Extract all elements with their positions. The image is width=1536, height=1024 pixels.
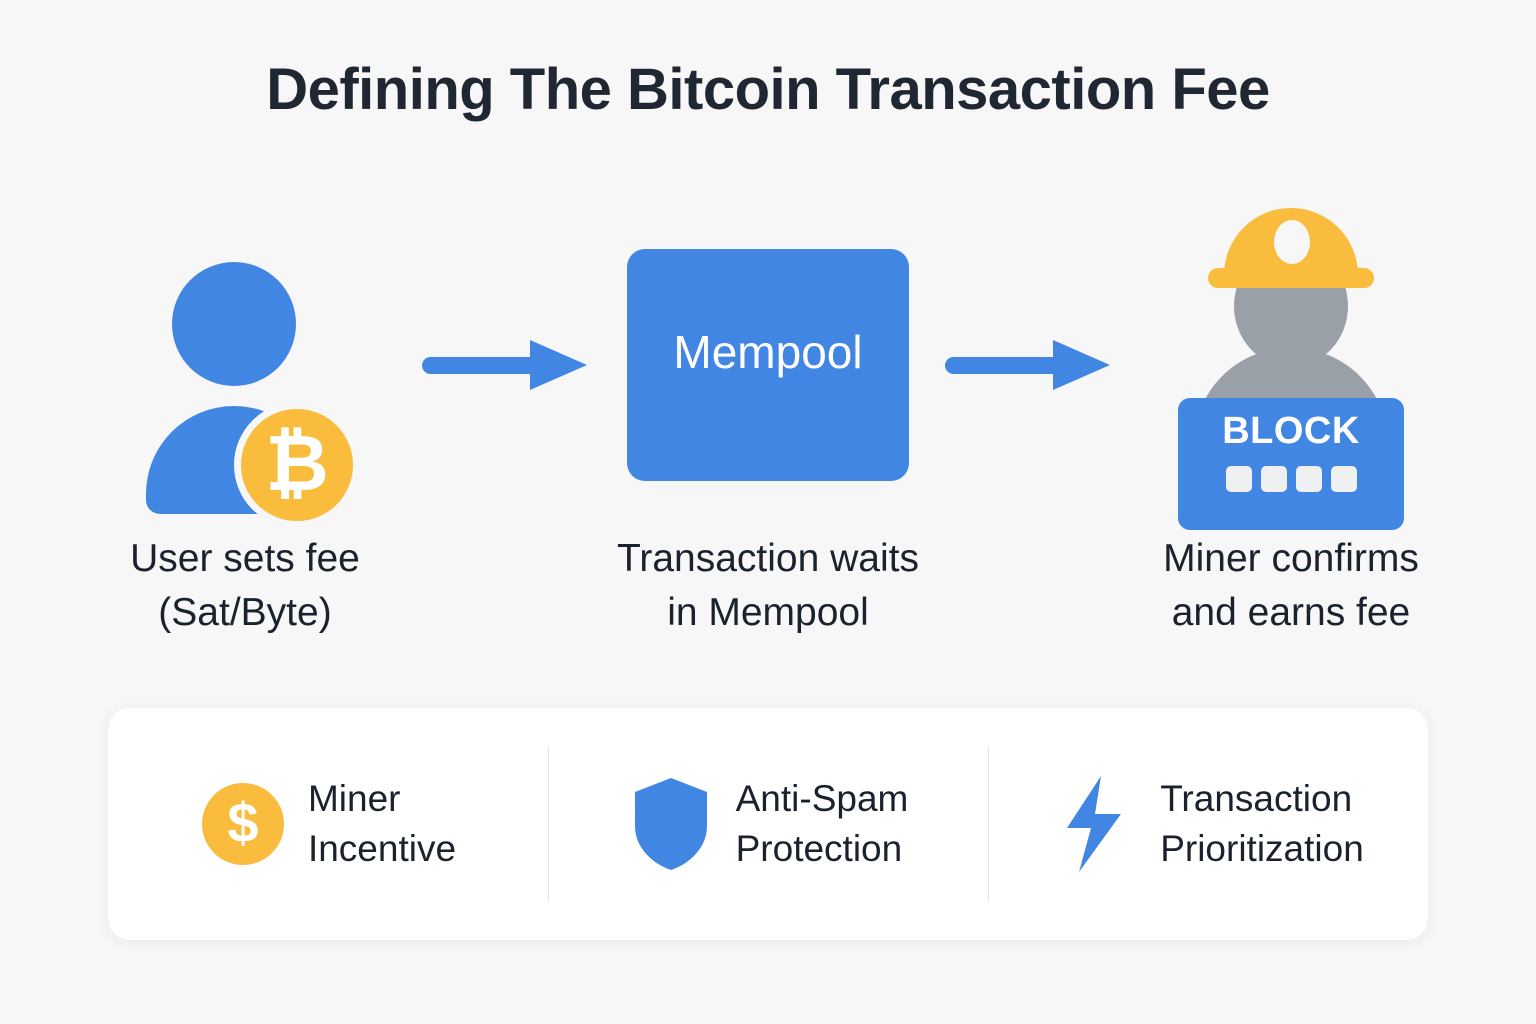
mempool-box-icon: Mempool xyxy=(627,249,909,481)
stage-caption-user: User sets fee (Sat/Byte) xyxy=(130,532,360,640)
block-chips xyxy=(1226,466,1357,492)
lightning-bolt-icon xyxy=(1052,774,1138,874)
shield-icon xyxy=(628,776,714,872)
flow-stage-miner: BLOCK Miner confirms and earns fee xyxy=(1126,190,1456,640)
block-chip xyxy=(1296,466,1322,492)
feature-miner-incentive: $ Miner Incentive xyxy=(108,708,548,940)
arrow-user-to-mempool xyxy=(417,190,597,540)
flow-stage-mempool: Mempool Transaction waits in Mempool xyxy=(603,190,933,640)
user-stage-art: ₿ xyxy=(80,190,410,540)
feature-label-transaction-prioritization: Transaction Prioritization xyxy=(1160,774,1364,875)
feature-label-miner-incentive: Miner Incentive xyxy=(308,774,456,875)
stage-caption-miner: Miner confirms and earns fee xyxy=(1163,532,1419,640)
bitcoin-coin-icon: ₿ xyxy=(234,402,360,528)
block-box-icon: BLOCK xyxy=(1178,398,1404,530)
block-box-label: BLOCK xyxy=(1222,412,1360,450)
miner-stage-art: BLOCK xyxy=(1126,190,1456,540)
transaction-flow-diagram: ₿ User sets fee (Sat/Byte) Mempool Trans… xyxy=(80,190,1456,660)
page-title: Defining The Bitcoin Transaction Fee xyxy=(0,58,1536,122)
feature-label-anti-spam-protection: Anti-Spam Protection xyxy=(736,774,909,875)
feature-card: $ Miner Incentive Anti-Spam Protection T… xyxy=(108,708,1428,940)
dollar-circle-icon: $ xyxy=(200,783,286,865)
miner-with-block-icon: BLOCK xyxy=(1176,200,1406,530)
hard-hat-vent-icon xyxy=(1274,220,1310,264)
user-with-bitcoin-coin-icon: ₿ xyxy=(130,220,360,510)
dollar-symbol: $ xyxy=(202,783,284,865)
flow-stage-user: ₿ User sets fee (Sat/Byte) xyxy=(80,190,410,640)
feature-transaction-prioritization: Transaction Prioritization xyxy=(988,708,1428,940)
hard-hat-brim-icon xyxy=(1208,268,1374,288)
block-chip xyxy=(1226,466,1252,492)
mempool-stage-art: Mempool xyxy=(603,190,933,540)
feature-anti-spam-protection: Anti-Spam Protection xyxy=(548,708,988,940)
stage-caption-mempool: Transaction waits in Mempool xyxy=(617,532,919,640)
block-chip xyxy=(1331,466,1357,492)
arrow-mempool-to-miner xyxy=(940,190,1120,540)
block-chip xyxy=(1261,466,1287,492)
mempool-box-label: Mempool xyxy=(673,325,862,379)
user-head-icon xyxy=(172,262,296,386)
